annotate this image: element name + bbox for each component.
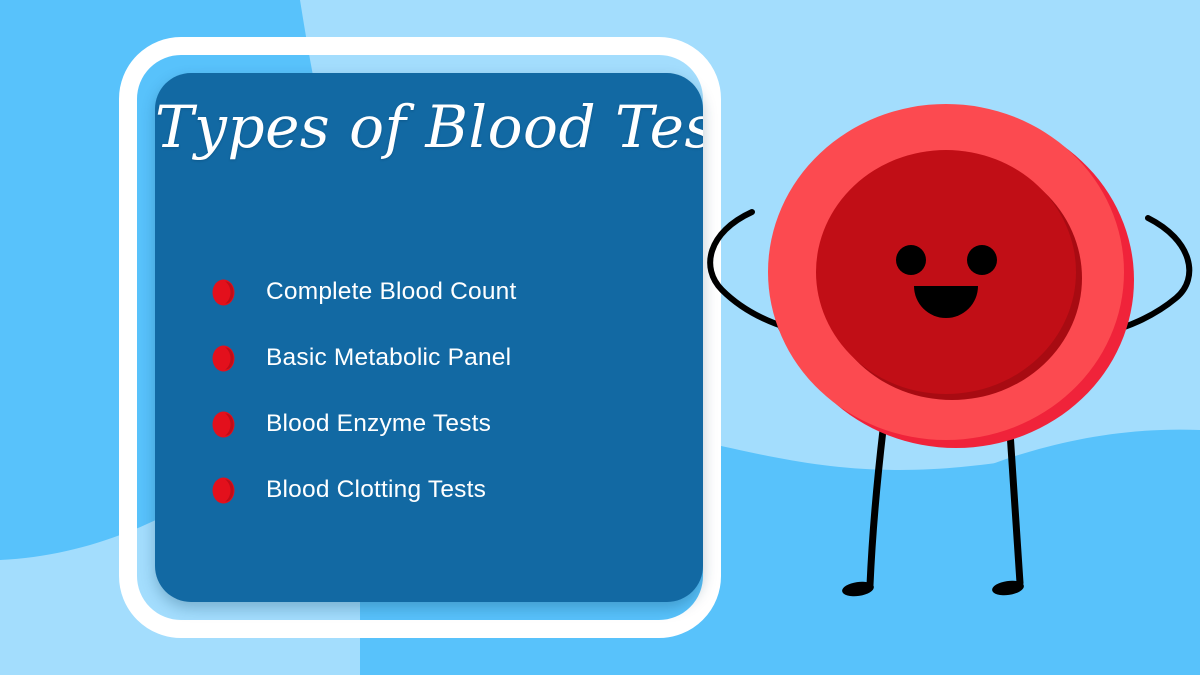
cell-inner-disc [816, 150, 1076, 394]
left-eye [896, 245, 926, 275]
blood-cell-icon [212, 345, 235, 372]
list-item: Complete Blood Count [212, 259, 682, 325]
list-item-label: Blood Clotting Tests [266, 476, 486, 504]
blood-cell-icon [212, 279, 235, 306]
list-item-label: Complete Blood Count [266, 278, 517, 306]
blood-cell-icon [212, 411, 235, 438]
blood-cell-icon [212, 477, 235, 504]
mascot-legs [870, 430, 1020, 585]
content-panel: Types of Blood Tests Complete Blood Coun… [155, 73, 703, 602]
blood-test-list: Complete Blood Count Basic Metabolic Pan… [212, 259, 682, 523]
left-leg [870, 430, 883, 585]
list-item: Blood Clotting Tests [212, 457, 682, 523]
list-item-label: Basic Metabolic Panel [266, 344, 511, 372]
list-item: Blood Enzyme Tests [212, 391, 682, 457]
red-blood-cell-mascot [700, 40, 1200, 660]
mascot-body [768, 104, 1134, 448]
right-leg [1010, 432, 1020, 583]
poster-canvas: Types of Blood Tests Complete Blood Coun… [0, 0, 1200, 675]
list-item: Basic Metabolic Panel [212, 325, 682, 391]
page-title: Types of Blood Tests [155, 97, 703, 158]
list-item-label: Blood Enzyme Tests [266, 410, 491, 438]
right-eye [967, 245, 997, 275]
